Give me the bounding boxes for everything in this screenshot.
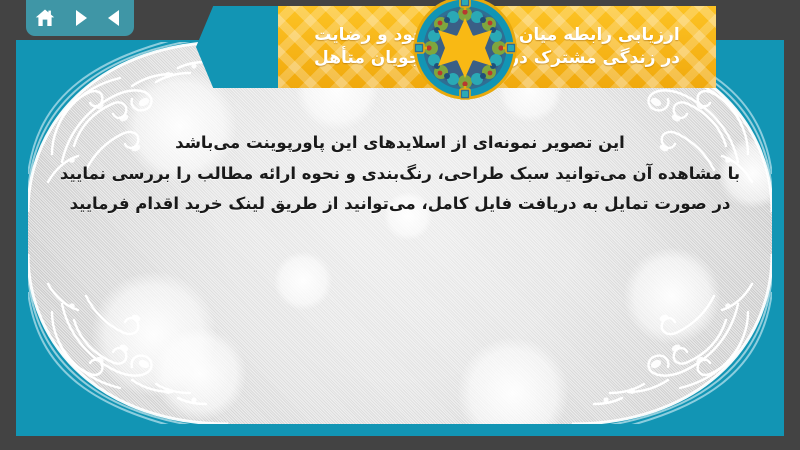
home-icon	[34, 7, 56, 29]
body-line-1: این تصویر نمونه‌ای از اسلایدهای این پاور…	[40, 128, 760, 159]
next-slide-button[interactable]	[67, 5, 93, 31]
back-arrow-icon	[105, 8, 125, 28]
body-line-3: در صورت تمایل به دریافت فایل کامل، می‌تو…	[40, 189, 760, 220]
slide-preview-window: ارزیابی رابطه میان شفقت به خود و رضایت د…	[0, 0, 800, 450]
persian-medallion-ornament	[413, 0, 517, 100]
slide-content-panel	[28, 42, 772, 424]
corner-ornament-bottom-left	[28, 254, 228, 424]
forward-arrow-icon	[70, 8, 90, 28]
slide-canvas	[16, 30, 784, 436]
corner-ornament-bottom-right	[572, 254, 772, 424]
bokeh-circle	[274, 252, 332, 310]
slide-body-text: این تصویر نمونه‌ای از اسلایدهای این پاور…	[40, 128, 760, 220]
bokeh-circle	[458, 338, 568, 424]
home-button[interactable]	[32, 5, 58, 31]
banner-arrow-tail	[196, 6, 282, 88]
slide-navigation-bar	[26, 0, 134, 36]
previous-slide-button[interactable]	[102, 5, 128, 31]
body-line-2: با مشاهده آن می‌توانید سبک طراحی، رنگ‌بن…	[40, 159, 760, 190]
